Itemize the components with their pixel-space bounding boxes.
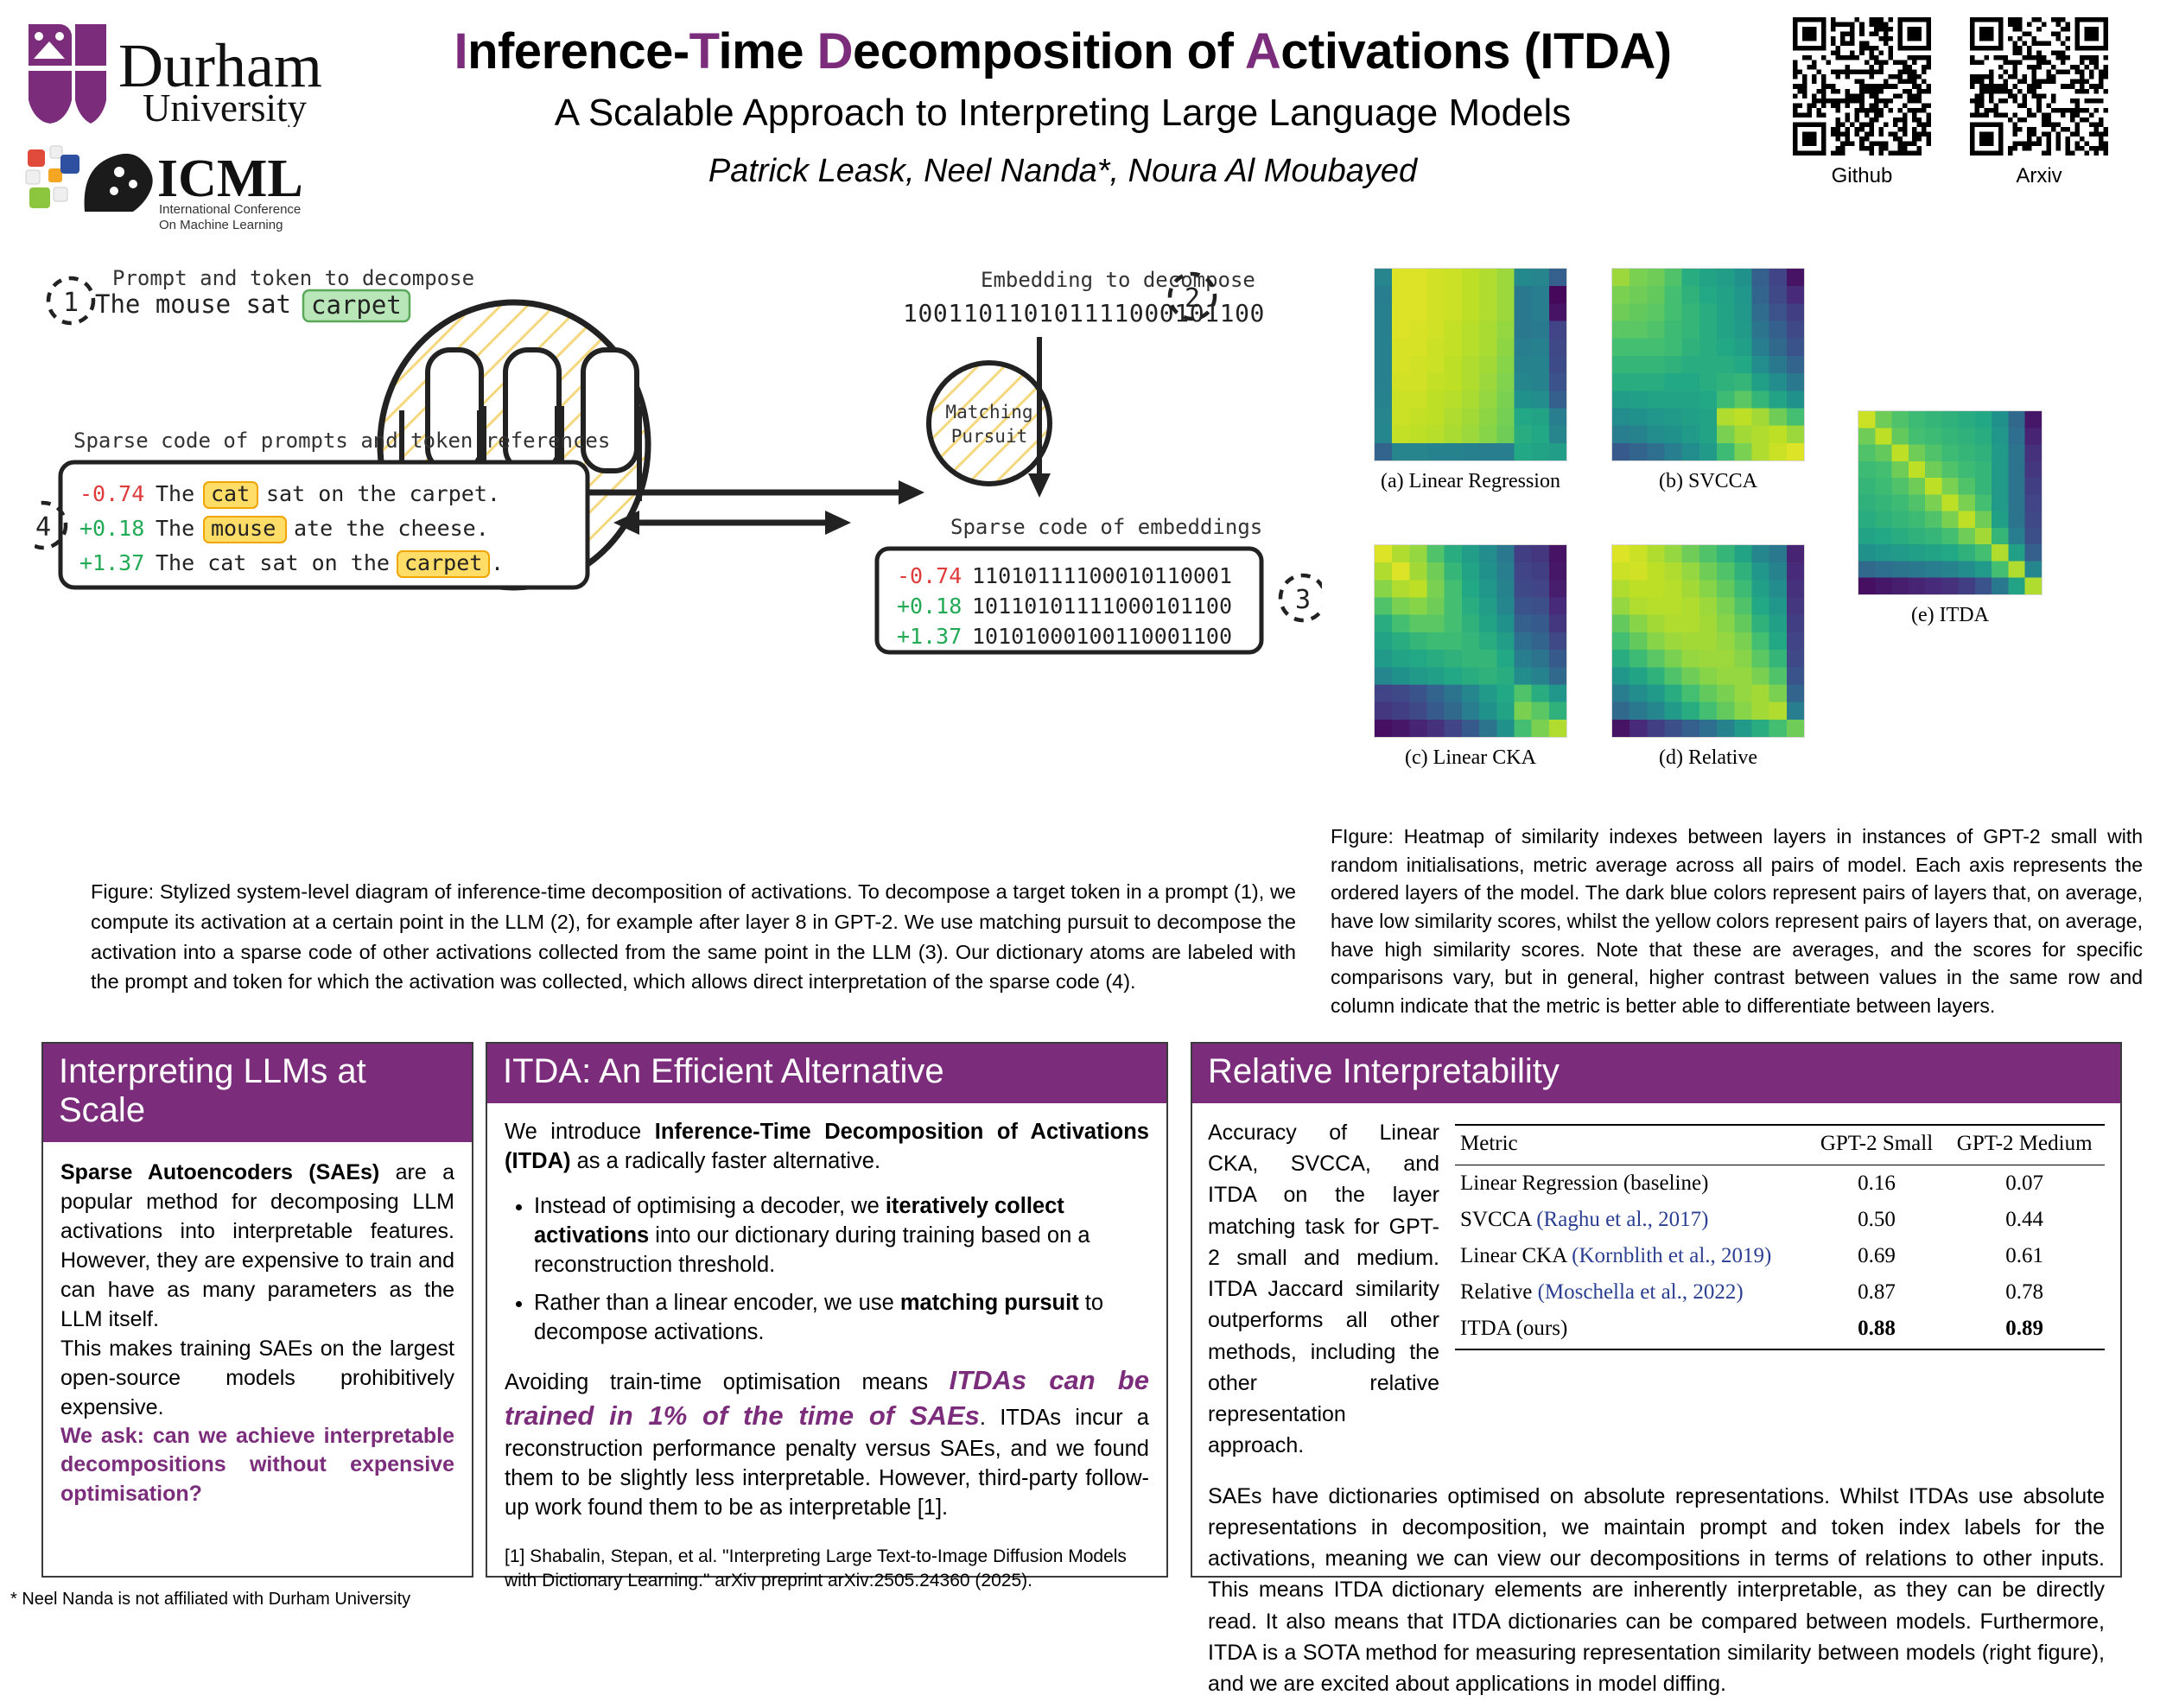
heatmap-e-canvas <box>1858 410 2042 595</box>
svg-text:.: . <box>491 550 504 575</box>
panel-2-heading: ITDA: An Efficient Alternative <box>487 1044 1166 1103</box>
matching-pursuit-label-1: Matching <box>945 402 1032 422</box>
step-3-coef-2: +1.37 <box>897 624 962 649</box>
title-seg-1: nference- <box>467 23 689 79</box>
heatmap-b-label: (b) SVCCA <box>1611 470 1805 493</box>
heatmap-c-canvas <box>1374 544 1567 738</box>
list-item: Rather than a linear encoder, we use mat… <box>534 1288 1149 1347</box>
step-3-number: 3 <box>1295 585 1311 615</box>
heatmap-caption: FIgure: Heatmap of similarity indexes be… <box>1331 822 2143 1020</box>
table-cell-small: 0.88 <box>1809 1311 1945 1349</box>
poster-authors: Patrick Leask, Neel Nanda*, Noura Al Mou… <box>372 153 1754 190</box>
step-3-bits-1: 10110101111000101100 <box>972 594 1232 619</box>
title-seg-3: ime <box>719 23 817 79</box>
heatmap-panel-c: (c) Linear CKA <box>1374 544 1567 770</box>
citation-link[interactable]: (Raghu et al., 2017) <box>1536 1208 1708 1231</box>
heatmap-b-canvas <box>1611 268 1805 461</box>
panel-2-reference: [1] Shabalin, Stepan, et al. "Interpreti… <box>505 1545 1149 1592</box>
panel-1-bold-lead: Sparse Autoencoders (SAEs) <box>60 1160 379 1184</box>
poster-subtitle: A Scalable Approach to Interpreting Larg… <box>372 92 1754 134</box>
step-1-number: 1 <box>63 288 79 318</box>
qr-github-label: Github <box>1788 164 1935 188</box>
qr-github-block[interactable]: Github <box>1788 17 1935 188</box>
heatmap-d-canvas <box>1611 544 1805 738</box>
table-body: Linear Regression (baseline)0.160.07SVCC… <box>1455 1165 2105 1349</box>
table-header-row: Metric GPT-2 Small GPT-2 Medium <box>1455 1125 2105 1165</box>
table-cell-metric: ITDA (ours) <box>1455 1311 1809 1349</box>
results-table-wrap: Metric GPT-2 Small GPT-2 Medium Linear R… <box>1455 1124 2105 1350</box>
table-cell-medium: 0.07 <box>1944 1165 2105 1202</box>
matching-pursuit-circle <box>929 363 1050 484</box>
panel-2-intro-post: as a radically faster alternative. <box>570 1149 880 1173</box>
svg-text:ate the cheese.: ate the cheese. <box>294 516 489 541</box>
table-cell-small: 0.87 <box>1809 1274 1945 1311</box>
title-seg-4: D <box>817 23 853 79</box>
step-3-coef-1: +0.18 <box>897 594 962 619</box>
matching-pursuit-label-2: Pursuit <box>951 426 1028 447</box>
table-cell-medium: 0.78 <box>1944 1274 2105 1311</box>
step-2-caption: Embedding to decompose <box>981 268 1255 292</box>
qr-arxiv-block[interactable]: Arxiv <box>1966 17 2112 188</box>
svg-text:The: The <box>156 481 194 506</box>
panel-1-para-2: This makes training SAEs on the largest … <box>60 1334 454 1422</box>
panel-3-top-row: Accuracy of Linear CKA, SVCCA, and ITDA … <box>1208 1117 2105 1462</box>
panel-3-heading: Relative Interpretability <box>1192 1044 2120 1103</box>
qr-code-group: Github Arxiv <box>1780 17 2143 233</box>
step-4-number: 4 <box>35 512 51 543</box>
heatmap-d-label: (d) Relative <box>1611 746 1805 770</box>
poster-root: Durham University ICML International Con… <box>0 0 2160 1620</box>
step-1-token: carpet <box>311 290 402 320</box>
table-cell-metric: Relative (Moschella et al., 2022) <box>1455 1274 1809 1311</box>
panel-3-body: Accuracy of Linear CKA, SVCCA, and ITDA … <box>1192 1103 2120 1708</box>
panel-2-intro-pre: We introduce <box>505 1120 655 1144</box>
panel-interpreting-llms: Interpreting LLMs at Scale Sparse Autoen… <box>41 1042 473 1578</box>
heatmap-panel-a: (a) Linear Regression <box>1374 268 1567 493</box>
heatmap-panel-d: (d) Relative <box>1611 544 1805 770</box>
citation-link[interactable]: (Moschella et al., 2022) <box>1538 1280 1744 1304</box>
heatmap-a-label: (a) Linear Regression <box>1374 470 1567 493</box>
step-4-coef-2: +1.37 <box>79 550 144 575</box>
qr-arxiv-image[interactable] <box>1970 17 2108 156</box>
panel-1-para-1: Sparse Autoencoders (SAEs) are a popular… <box>60 1158 454 1334</box>
qr-arxiv-label: Arxiv <box>1966 164 2112 188</box>
icml-logo: ICML International Conference On Machine… <box>17 134 389 233</box>
table-col-gpt2-small: GPT-2 Small <box>1809 1125 1945 1165</box>
title-seg-7: ctivations (ITDA) <box>1280 23 1671 79</box>
icml-subtitle-1: International Conference <box>159 202 301 217</box>
heatmap-c-label: (c) Linear CKA <box>1374 746 1567 770</box>
panel-1-research-question: We ask: can we achieve interpretable dec… <box>60 1422 454 1509</box>
panel-1-body: Sparse Autoencoders (SAEs) are a popular… <box>43 1142 472 1521</box>
step-4-token-1: mouse <box>211 516 276 541</box>
title-seg-2: T <box>689 23 719 79</box>
heatmap-panel-e: (e) ITDA <box>1858 410 2042 627</box>
step-4-coef-1: +0.18 <box>79 516 144 541</box>
step-3-rows: -0.74 11010111100010110001 +0.18 1011010… <box>897 563 1232 649</box>
heatmap-panel-b: (b) SVCCA <box>1611 268 1805 493</box>
panel-2-para-pre: Avoiding train-time optimisation means <box>505 1370 950 1394</box>
title-seg-6: A <box>1245 23 1280 79</box>
table-cell-small: 0.50 <box>1809 1202 1945 1238</box>
table-row: Linear Regression (baseline)0.160.07 <box>1455 1165 2105 1202</box>
panel-2-para: Avoiding train-time optimisation means I… <box>505 1362 1149 1523</box>
bullet-0-pre: Instead of optimising a decoder, we <box>534 1194 886 1218</box>
table-cell-small: 0.16 <box>1809 1165 1945 1202</box>
table-row: SVCCA (Raghu et al., 2017)0.500.44 <box>1455 1202 2105 1238</box>
bullet-1-pre: Rather than a linear encoder, we use <box>534 1291 900 1315</box>
list-item: Instead of optimising a decoder, we iter… <box>534 1191 1149 1279</box>
svg-text:sat on the carpet.: sat on the carpet. <box>266 481 500 506</box>
table-cell-medium: 0.89 <box>1944 1311 2105 1349</box>
step-3-bits-0: 11010111100010110001 <box>972 563 1232 588</box>
table-cell-small: 0.69 <box>1809 1238 1945 1274</box>
step-4-token-2: carpet <box>404 550 482 575</box>
step-2-number: 2 <box>1185 283 1200 314</box>
step-4-token-0: cat <box>211 481 250 506</box>
step-4-caption: Sparse code of prompts and token referen… <box>73 429 610 453</box>
poster-header: Durham University ICML International Con… <box>0 0 2160 259</box>
system-diagram: 1 Prompt and token to decompose The mous… <box>35 259 1322 864</box>
table-col-gpt2-medium: GPT-2 Medium <box>1944 1125 2105 1165</box>
step-4-coef-0: -0.74 <box>79 481 144 506</box>
svg-text:ICML: ICML <box>157 149 303 208</box>
panel-3-left-text: Accuracy of Linear CKA, SVCCA, and ITDA … <box>1208 1117 1439 1462</box>
table-cell-medium: 0.44 <box>1944 1202 2105 1238</box>
panel-1-heading: Interpreting LLMs at Scale <box>43 1044 472 1142</box>
step-3-caption: Sparse code of embeddings <box>950 515 1262 539</box>
table-row: ITDA (ours)0.880.89 <box>1455 1311 2105 1349</box>
title-seg-0: I <box>454 23 467 79</box>
heatmap-a-canvas <box>1374 268 1567 461</box>
title-block: Inference-Time Decomposition of Activati… <box>372 26 1754 190</box>
table-row: Linear CKA (Kornblith et al., 2019)0.690… <box>1455 1238 2105 1274</box>
panel-1-body-1: are a popular method for decomposing LLM… <box>60 1160 454 1331</box>
panel-2-intro: We introduce Inference-Time Decompositio… <box>505 1117 1149 1176</box>
panel-relative-interpretability: Relative Interpretability Accuracy of Li… <box>1191 1042 2122 1578</box>
table-cell-metric: Linear Regression (baseline) <box>1455 1165 1809 1202</box>
table-cell-medium: 0.61 <box>1944 1238 2105 1274</box>
panel-3-bottom-text: SAEs have dictionaries optimised on abso… <box>1208 1481 2105 1700</box>
panel-2-body: We introduce Inference-Time Decompositio… <box>487 1103 1166 1604</box>
diagram-caption: Figure: Stylized system-level diagram of… <box>91 877 1296 997</box>
citation-link[interactable]: (Kornblith et al., 2019) <box>1572 1244 1771 1267</box>
svg-text:University: University <box>143 86 307 127</box>
svg-text:The: The <box>156 516 194 541</box>
results-table: Metric GPT-2 Small GPT-2 Medium Linear R… <box>1455 1124 2105 1350</box>
heatmap-e-label: (e) ITDA <box>1858 604 2042 627</box>
title-seg-5: ecomposition of <box>853 23 1245 79</box>
table-cell-metric: SVCCA (Raghu et al., 2017) <box>1455 1202 1809 1238</box>
panel-itda-alternative: ITDA: An Efficient Alternative We introd… <box>486 1042 1168 1578</box>
svg-text:The cat sat on the: The cat sat on the <box>156 550 390 575</box>
step-2-bits: 100110110101111000101100 <box>903 299 1265 327</box>
table-row: Relative (Moschella et al., 2022)0.870.7… <box>1455 1274 2105 1311</box>
step-3-bits-2: 10101000100110001100 <box>972 624 1232 649</box>
system-diagram-svg: 1 Prompt and token to decompose The mous… <box>35 259 1322 864</box>
durham-university-logo: Durham University <box>22 19 384 127</box>
qr-github-image[interactable] <box>1793 17 1931 156</box>
bullet-1-bold: matching pursuit <box>900 1291 1079 1315</box>
footnote: * Neel Nanda is not affiliated with Durh… <box>10 1590 410 1610</box>
step-3-coef-0: -0.74 <box>897 563 962 588</box>
table-col-metric: Metric <box>1455 1125 1809 1165</box>
page-title: Inference-Time Decomposition of Activati… <box>372 26 1754 79</box>
heatmap-figure: (a) Linear Regression (b) SVCCA (c) Line… <box>1322 268 2151 821</box>
table-cell-metric: Linear CKA (Kornblith et al., 2019) <box>1455 1238 1809 1274</box>
icml-subtitle-2: On Machine Learning <box>159 218 283 232</box>
panel-2-bullet-list: Instead of optimising a decoder, we iter… <box>505 1191 1149 1347</box>
step-1-caption: Prompt and token to decompose <box>112 266 474 290</box>
